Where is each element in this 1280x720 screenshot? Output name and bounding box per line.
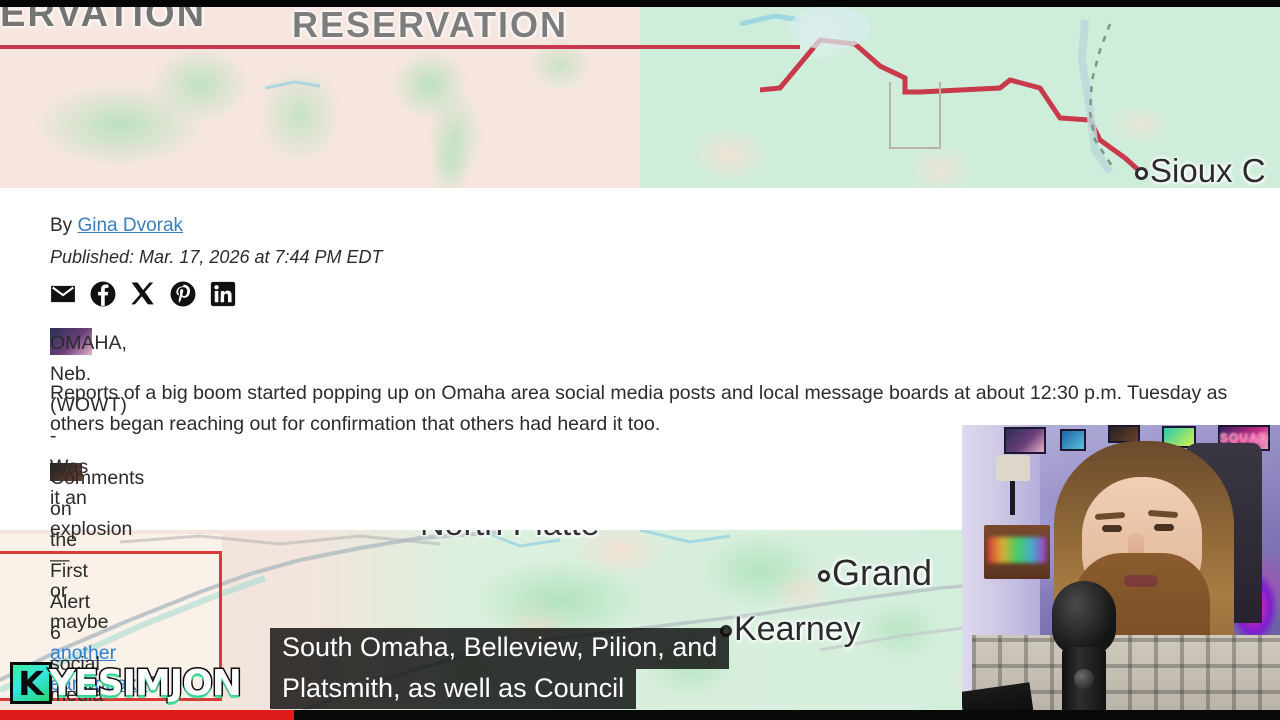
rgb-light-strip [988, 537, 1046, 563]
microphone-windscreen [1052, 581, 1116, 655]
map-city-marker-grand-icon [818, 570, 830, 582]
map-top-vector-layer [0, 0, 1280, 183]
video-player-frame: ERVATION RESERVATION Sioux C By Gina Dvo… [0, 0, 1280, 720]
webcam-overlay[interactable]: SQUAD [962, 425, 1280, 720]
author-link[interactable]: Gina Dvorak [77, 215, 183, 236]
subtitle-line-1: South Omaha, Belleview, Pilion, and [270, 628, 729, 669]
watermark-k-badge-icon: K [10, 662, 52, 704]
map-label-kearney: Kearney [720, 610, 861, 649]
subtitle-overlay: South Omaha, Belleview, Pilion, and Plat… [270, 628, 729, 709]
letterbox-bar-top [0, 0, 1280, 7]
article-paragraph-1: OMAHA, Neb. (WOWT) - Was it an explosion… [50, 328, 92, 355]
streamer-eye-left [1102, 525, 1122, 532]
video-progress-fill [0, 710, 294, 720]
email-icon[interactable] [50, 281, 76, 307]
channel-watermark: K YESIMJON [10, 662, 241, 704]
byline: By Gina Dvorak [50, 212, 1230, 240]
microphone-knob [1074, 669, 1094, 689]
video-progress-bar[interactable] [0, 710, 1280, 720]
byline-prefix: By [50, 215, 77, 236]
social-share-row [50, 281, 1230, 307]
pinterest-icon[interactable] [170, 281, 196, 307]
map-label-grand-island: Grand [818, 552, 932, 594]
article-paragraph-3: Comments on the First Alert 6 social med… [50, 463, 82, 481]
lamp-left-stem [1010, 481, 1015, 515]
linkedin-icon[interactable] [210, 281, 236, 307]
wall-poster-1 [1004, 427, 1046, 454]
map-label-grand-text: Grand [832, 552, 932, 593]
map-label-kearney-text: Kearney [734, 610, 861, 648]
x-icon[interactable] [130, 281, 156, 307]
streamer-mouth [1124, 575, 1158, 587]
lamp-left-shade [996, 455, 1030, 481]
watermark-text: YESIMJON [49, 663, 241, 704]
map-label-sioux-city: Sioux C [1135, 152, 1266, 190]
map-city-marker-icon [1135, 167, 1148, 180]
subtitle-line-2: Platsmith, as well as Council [270, 669, 636, 710]
map-city-name: Sioux C [1150, 152, 1266, 189]
streamer-eye-right [1154, 524, 1174, 531]
facebook-icon[interactable] [90, 281, 116, 307]
wall-poster-2 [1060, 429, 1086, 451]
published-date: Published: Mar. 17, 2026 at 7:44 PM EDT [50, 244, 1230, 270]
